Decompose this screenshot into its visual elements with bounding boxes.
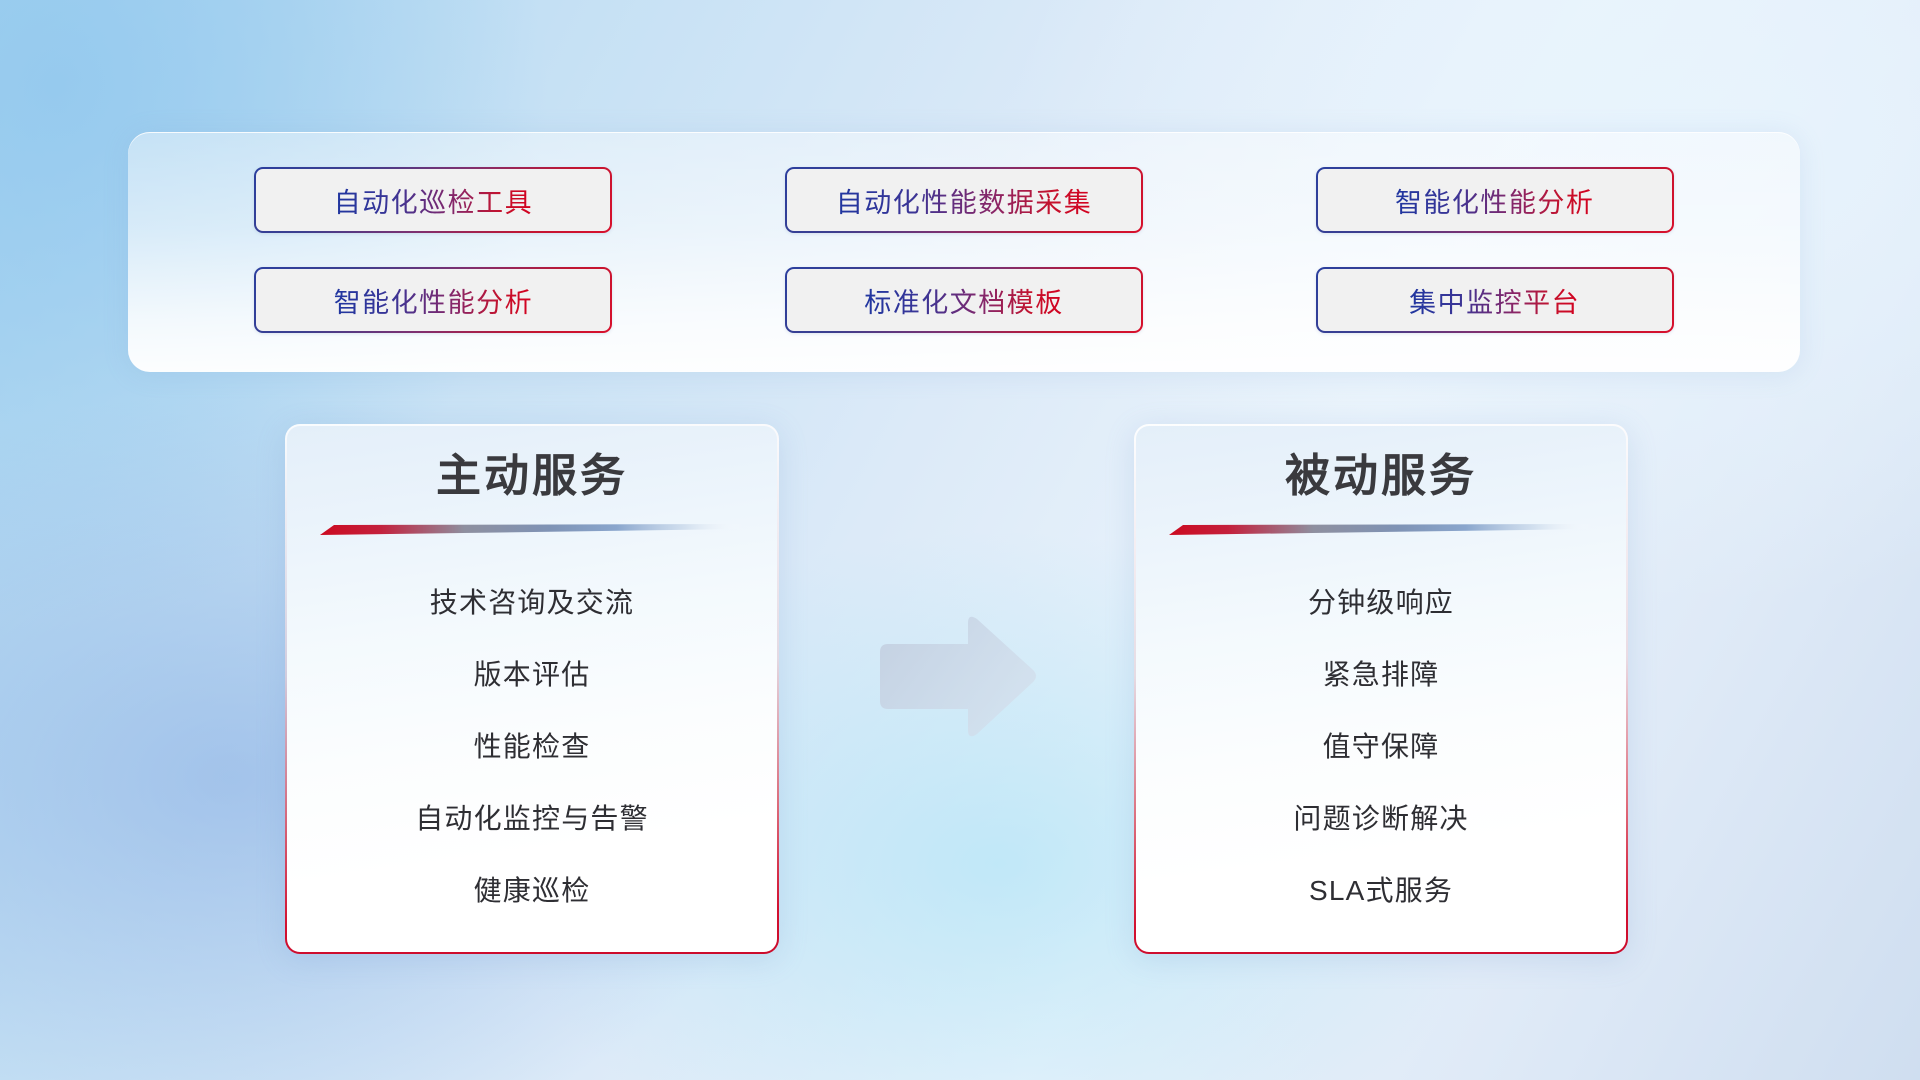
card-title: 被动服务: [1285, 448, 1477, 504]
card-body: 被动服务 分钟级响应 紧急排障: [1136, 426, 1626, 952]
card-title-divider: [1169, 524, 1593, 535]
capability-pill-4[interactable]: 智能化性能分析: [254, 267, 612, 333]
capability-pill-2[interactable]: 自动化性能数据采集: [785, 167, 1143, 233]
list-item: 问题诊断解决: [1293, 781, 1468, 853]
list-item: 值守保障: [1323, 709, 1440, 781]
capability-pill-label: 智能化性能分析: [334, 281, 534, 320]
capability-pill-label: 自动化性能数据采集: [836, 181, 1093, 220]
capability-pill-3[interactable]: 智能化性能分析: [1316, 167, 1674, 233]
service-list-reactive: 分钟级响应 紧急排障 值守保障 问题诊断解决 SLA式服务: [1136, 565, 1626, 925]
list-item: SLA式服务: [1309, 853, 1453, 925]
capability-pill-6[interactable]: 集中监控平台: [1316, 267, 1674, 333]
service-card-reactive: 被动服务 分钟级响应 紧急排障: [1134, 424, 1628, 954]
slide-canvas: 自动化巡检工具 自动化性能数据采集 智能化性能分析 智能化性能分析 标准化文档模…: [0, 0, 1920, 1080]
list-item: 性能检查: [474, 709, 591, 781]
list-item: 自动化监控与告警: [415, 781, 649, 853]
capability-pill-label: 自动化巡检工具: [334, 181, 534, 220]
card-title-divider: [320, 524, 744, 535]
card-body: 主动服务 技术咨询及交流 版本评估: [287, 426, 777, 952]
list-item: 技术咨询及交流: [430, 565, 634, 637]
list-item: 分钟级响应: [1308, 565, 1454, 637]
list-item: 版本评估: [474, 637, 591, 709]
service-list-proactive: 技术咨询及交流 版本评估 性能检查 自动化监控与告警 健康巡检: [287, 565, 777, 925]
service-card-proactive: 主动服务 技术咨询及交流 版本评估: [285, 424, 779, 954]
list-item: 紧急排障: [1323, 637, 1440, 709]
capability-pill-1[interactable]: 自动化巡检工具: [254, 167, 612, 233]
capability-panel: 自动化巡检工具 自动化性能数据采集 智能化性能分析 智能化性能分析 标准化文档模…: [128, 132, 1800, 372]
capability-pill-label: 标准化文档模板: [864, 281, 1064, 320]
capability-pill-label: 集中监控平台: [1409, 281, 1580, 320]
card-title: 主动服务: [436, 448, 628, 504]
arrow-right-icon: [872, 611, 1042, 744]
capability-pill-label: 智能化性能分析: [1395, 181, 1595, 220]
list-item: 健康巡检: [474, 853, 591, 925]
capability-pill-5[interactable]: 标准化文档模板: [785, 267, 1143, 333]
